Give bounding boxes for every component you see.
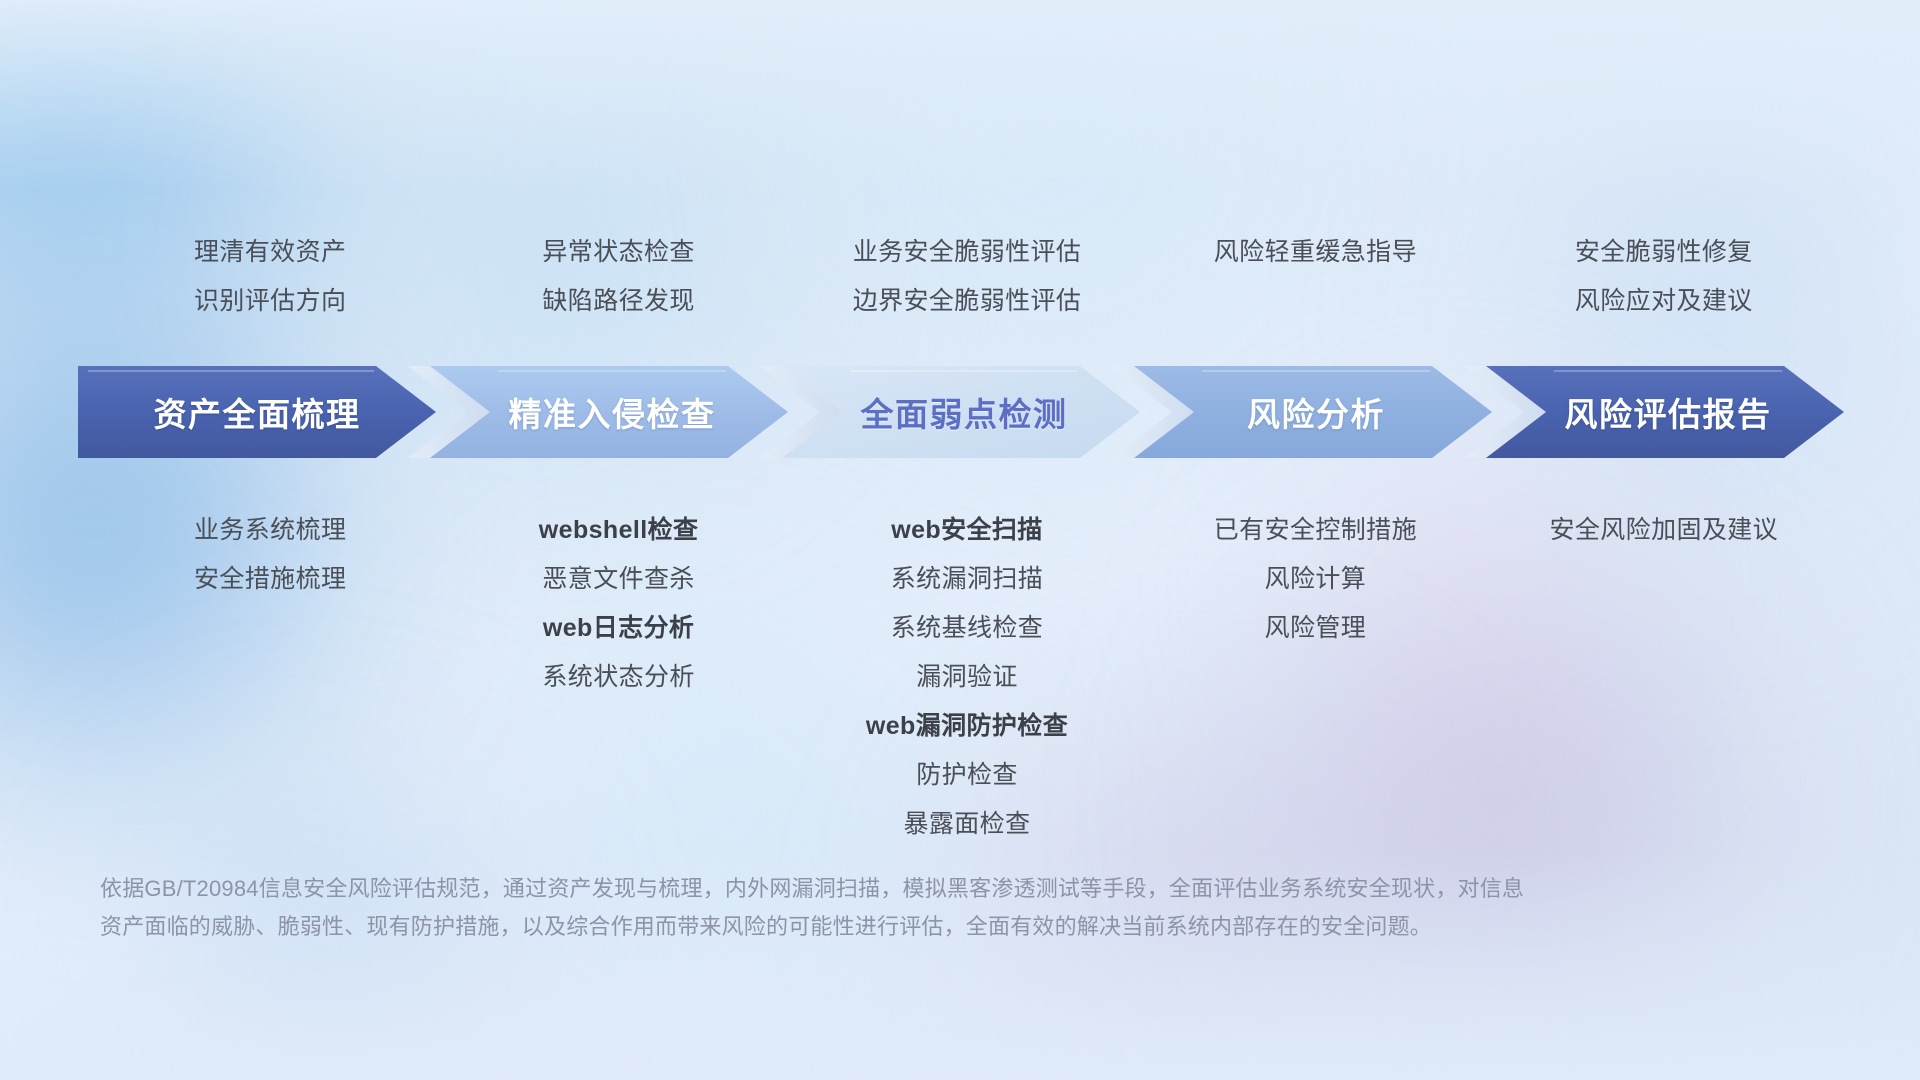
stage-activities-1: 业务系统梳理 安全措施梳理: [96, 506, 444, 849]
process-chevron-band: 资产全面梳理 精准入侵检查 全面弱点检测 风险分析 风险评估报告: [78, 366, 1844, 458]
stage-activity-item: 系统漏洞扫描: [891, 555, 1043, 604]
stage-outputs-3: 业务安全脆弱性评估 边界安全脆弱性评估: [793, 228, 1141, 326]
stage-activities-row: 业务系统梳理 安全措施梳理 webshell检查 恶意文件查杀 web日志分析 …: [96, 506, 1838, 849]
stage-outputs-4: 风险轻重缓急指导: [1141, 228, 1489, 326]
stage-activity-item: 已有安全控制措施: [1214, 506, 1417, 555]
stage-output-item: 理清有效资产: [194, 228, 346, 277]
stage-output-item: 风险轻重缓急指导: [1214, 228, 1417, 277]
stage-output-item: 缺陷路径发现: [542, 277, 694, 326]
stage-activity-item: 风险管理: [1265, 604, 1367, 653]
stage-activity-item: webshell检查: [539, 506, 699, 555]
stage-output-item: 边界安全脆弱性评估: [853, 277, 1082, 326]
stage-activity-item: 安全措施梳理: [194, 555, 346, 604]
stage-activity-item: 系统基线检查: [891, 604, 1043, 653]
stage-activity-item: web安全扫描: [891, 506, 1042, 555]
stage-output-item: 识别评估方向: [194, 277, 346, 326]
stage-outputs-2: 异常状态检查 缺陷路径发现: [444, 228, 792, 326]
stage-activities-4: 已有安全控制措施 风险计算 风险管理: [1141, 506, 1489, 849]
stage-activity-item: 漏洞验证: [916, 653, 1018, 702]
footer-description: 依据GB/T20984信息安全风险评估规范，通过资产发现与梳理，内外网漏洞扫描，…: [100, 870, 1600, 946]
stage-outputs-row: 理清有效资产 识别评估方向 异常状态检查 缺陷路径发现 业务安全脆弱性评估 边界…: [96, 228, 1838, 326]
stage-activity-item: 防护检查: [916, 751, 1018, 800]
stage-activity-item: 风险计算: [1265, 555, 1367, 604]
footer-line-2: 资产面临的威胁、脆弱性、现有防护措施，以及综合作用而带来风险的可能性进行评估，全…: [100, 908, 1600, 946]
stage-activity-item: 系统状态分析: [542, 653, 694, 702]
stage-outputs-1: 理清有效资产 识别评估方向: [96, 228, 444, 326]
stage-activities-3: web安全扫描 系统漏洞扫描 系统基线检查 漏洞验证 web漏洞防护检查 防护检…: [793, 506, 1141, 849]
stage-activity-item: 业务系统梳理: [194, 506, 346, 555]
footer-line-1: 依据GB/T20984信息安全风险评估规范，通过资产发现与梳理，内外网漏洞扫描，…: [100, 870, 1600, 908]
slide-canvas: 理清有效资产 识别评估方向 异常状态检查 缺陷路径发现 业务安全脆弱性评估 边界…: [0, 0, 1920, 1080]
chevron-shape-1: [78, 366, 436, 458]
stage-activity-item: web日志分析: [543, 604, 694, 653]
stage-output-item: 异常状态检查: [542, 228, 694, 277]
stage-activity-item: web漏洞防护检查: [866, 702, 1068, 751]
stage-output-item: 风险应对及建议: [1575, 277, 1753, 326]
stage-activity-item: 恶意文件查杀: [542, 555, 694, 604]
stage-activity-item: 安全风险加固及建议: [1549, 506, 1778, 555]
stage-activities-5: 安全风险加固及建议: [1490, 506, 1838, 849]
stage-activities-2: webshell检查 恶意文件查杀 web日志分析 系统状态分析: [444, 506, 792, 849]
stage-activity-item: 暴露面检查: [903, 800, 1030, 849]
stage-output-item: 安全脆弱性修复: [1575, 228, 1753, 277]
stage-outputs-5: 安全脆弱性修复 风险应对及建议: [1490, 228, 1838, 326]
stage-output-item: 业务安全脆弱性评估: [853, 228, 1082, 277]
